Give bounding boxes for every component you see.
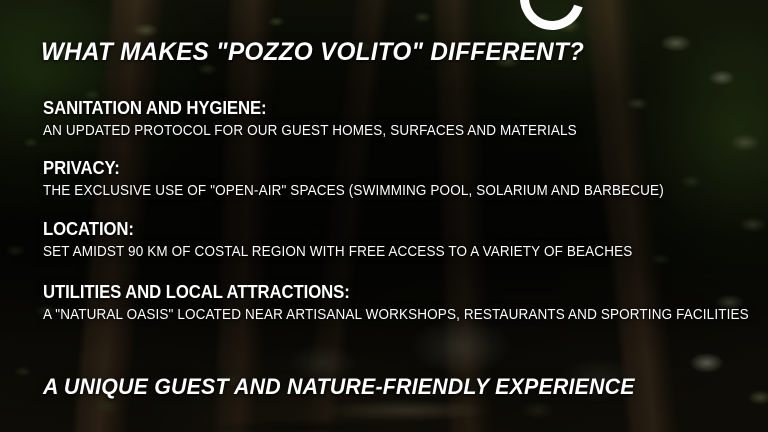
slide-text-content: WHAT MAKES "POZZO VOLITO" DIFFERENT? SAN… — [0, 0, 768, 432]
section-body: THE EXCLUSIVE USE OF "OPEN-AIR" SPACES (… — [43, 183, 664, 199]
slide-footer-tagline: A UNIQUE GUEST AND NATURE-FRIENDLY EXPER… — [43, 374, 635, 400]
section-body: AN UPDATED PROTOCOL FOR OUR GUEST HOMES,… — [43, 123, 577, 139]
section-privacy: PRIVACY: THE EXCLUSIVE USE OF "OPEN-AIR"… — [43, 158, 714, 199]
section-heading: PRIVACY: — [43, 158, 667, 179]
section-heading: UTILITIES AND LOCAL ATTRACTIONS: — [43, 282, 753, 303]
section-sanitation-and-hygiene: SANITATION AND HYGIENE: AN UPDATED PROTO… — [43, 98, 620, 139]
section-location: LOCATION: SET AMIDST 90 KM OF COSTAL REG… — [43, 219, 680, 260]
section-heading: LOCATION: — [43, 219, 636, 240]
slide-main-title: WHAT MAKES "POZZO VOLITO" DIFFERENT? — [41, 38, 584, 67]
presentation-slide: WHAT MAKES "POZZO VOLITO" DIFFERENT? SAN… — [0, 0, 768, 432]
section-heading: SANITATION AND HYGIENE: — [43, 98, 580, 119]
section-body: SET AMIDST 90 KM OF COSTAL REGION WITH F… — [43, 244, 632, 260]
section-body: A "NATURAL OASIS" LOCATED NEAR ARTISANAL… — [43, 307, 749, 323]
section-utilities-and-local-attractions: UTILITIES AND LOCAL ATTRACTIONS: A "NATU… — [43, 282, 768, 323]
